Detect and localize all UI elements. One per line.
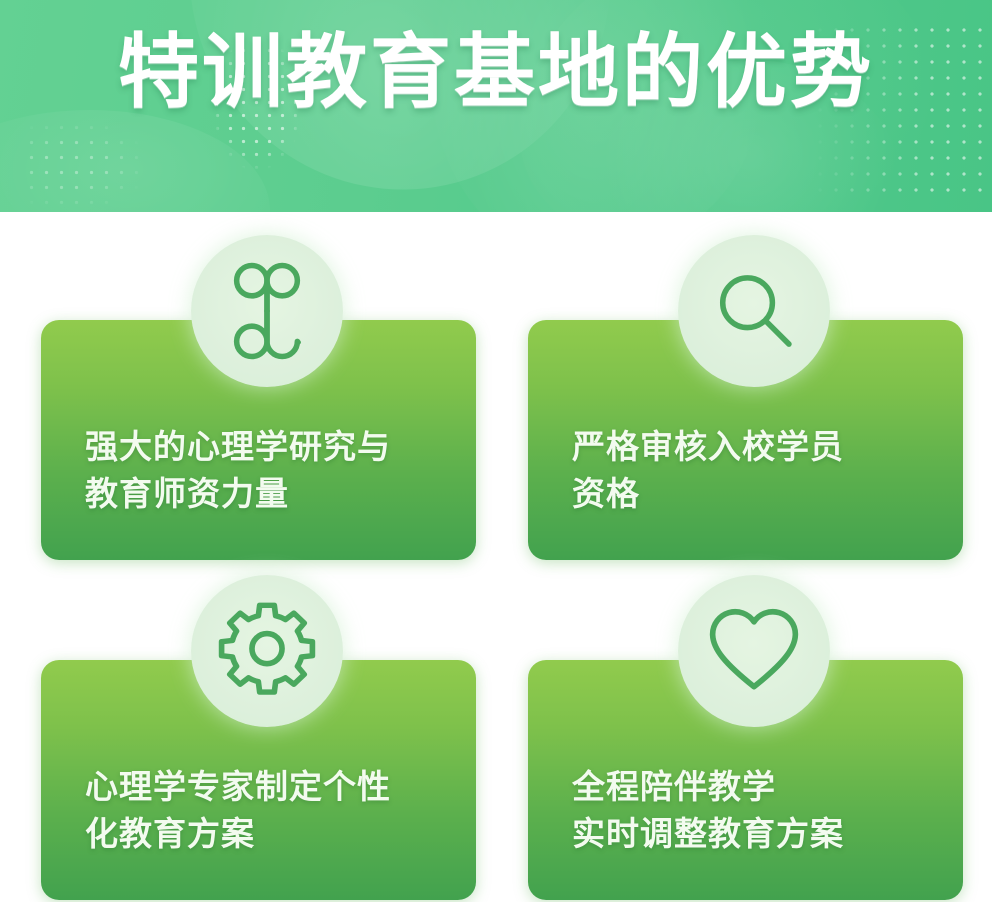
dot-pattern-bottom-left (24, 120, 144, 210)
advantage-card-1[interactable]: 强大的心理学研究与 教育师资力量 (41, 235, 476, 575)
magnifier-icon (708, 265, 800, 357)
advantage-card-4[interactable]: 全程陪伴教学 实时调整教育方案 (528, 575, 963, 902)
advantage-card-3[interactable]: 心理学专家制定个性 化教育方案 (41, 575, 476, 902)
icon-badge (678, 575, 830, 727)
card-text-line: 全程陪伴教学 (572, 764, 941, 811)
card-text-line: 强大的心理学研究与 (85, 424, 454, 471)
gear-icon (220, 604, 314, 698)
clover-icon (221, 265, 313, 357)
card-text-line: 教育师资力量 (85, 471, 454, 518)
icon-badge (678, 235, 830, 387)
card-text-line: 资格 (572, 471, 941, 518)
card-text-1: 强大的心理学研究与 教育师资力量 (85, 424, 454, 518)
card-text-line: 实时调整教育方案 (572, 811, 941, 858)
advantage-card-grid: 强大的心理学研究与 教育师资力量 (0, 212, 992, 902)
card-text-line: 严格审核入校学员 (572, 424, 941, 471)
card-text-line: 心理学专家制定个性 (85, 764, 454, 811)
page-title: 特训教育基地的优势 (0, 30, 992, 117)
advantages-infographic: 特训教育基地的优势 强大的心理学研究与 教育师资力量 (0, 0, 992, 902)
heart-icon (707, 604, 801, 698)
card-text-2: 严格审核入校学员 资格 (572, 424, 941, 518)
header-banner: 特训教育基地的优势 (0, 0, 992, 212)
card-text-4: 全程陪伴教学 实时调整教育方案 (572, 764, 941, 858)
icon-badge (191, 235, 343, 387)
banner-swirl-decoration (0, 110, 270, 212)
card-text-line: 化教育方案 (85, 811, 454, 858)
advantage-card-2[interactable]: 严格审核入校学员 资格 (528, 235, 963, 575)
icon-badge (191, 575, 343, 727)
card-text-3: 心理学专家制定个性 化教育方案 (85, 764, 454, 858)
